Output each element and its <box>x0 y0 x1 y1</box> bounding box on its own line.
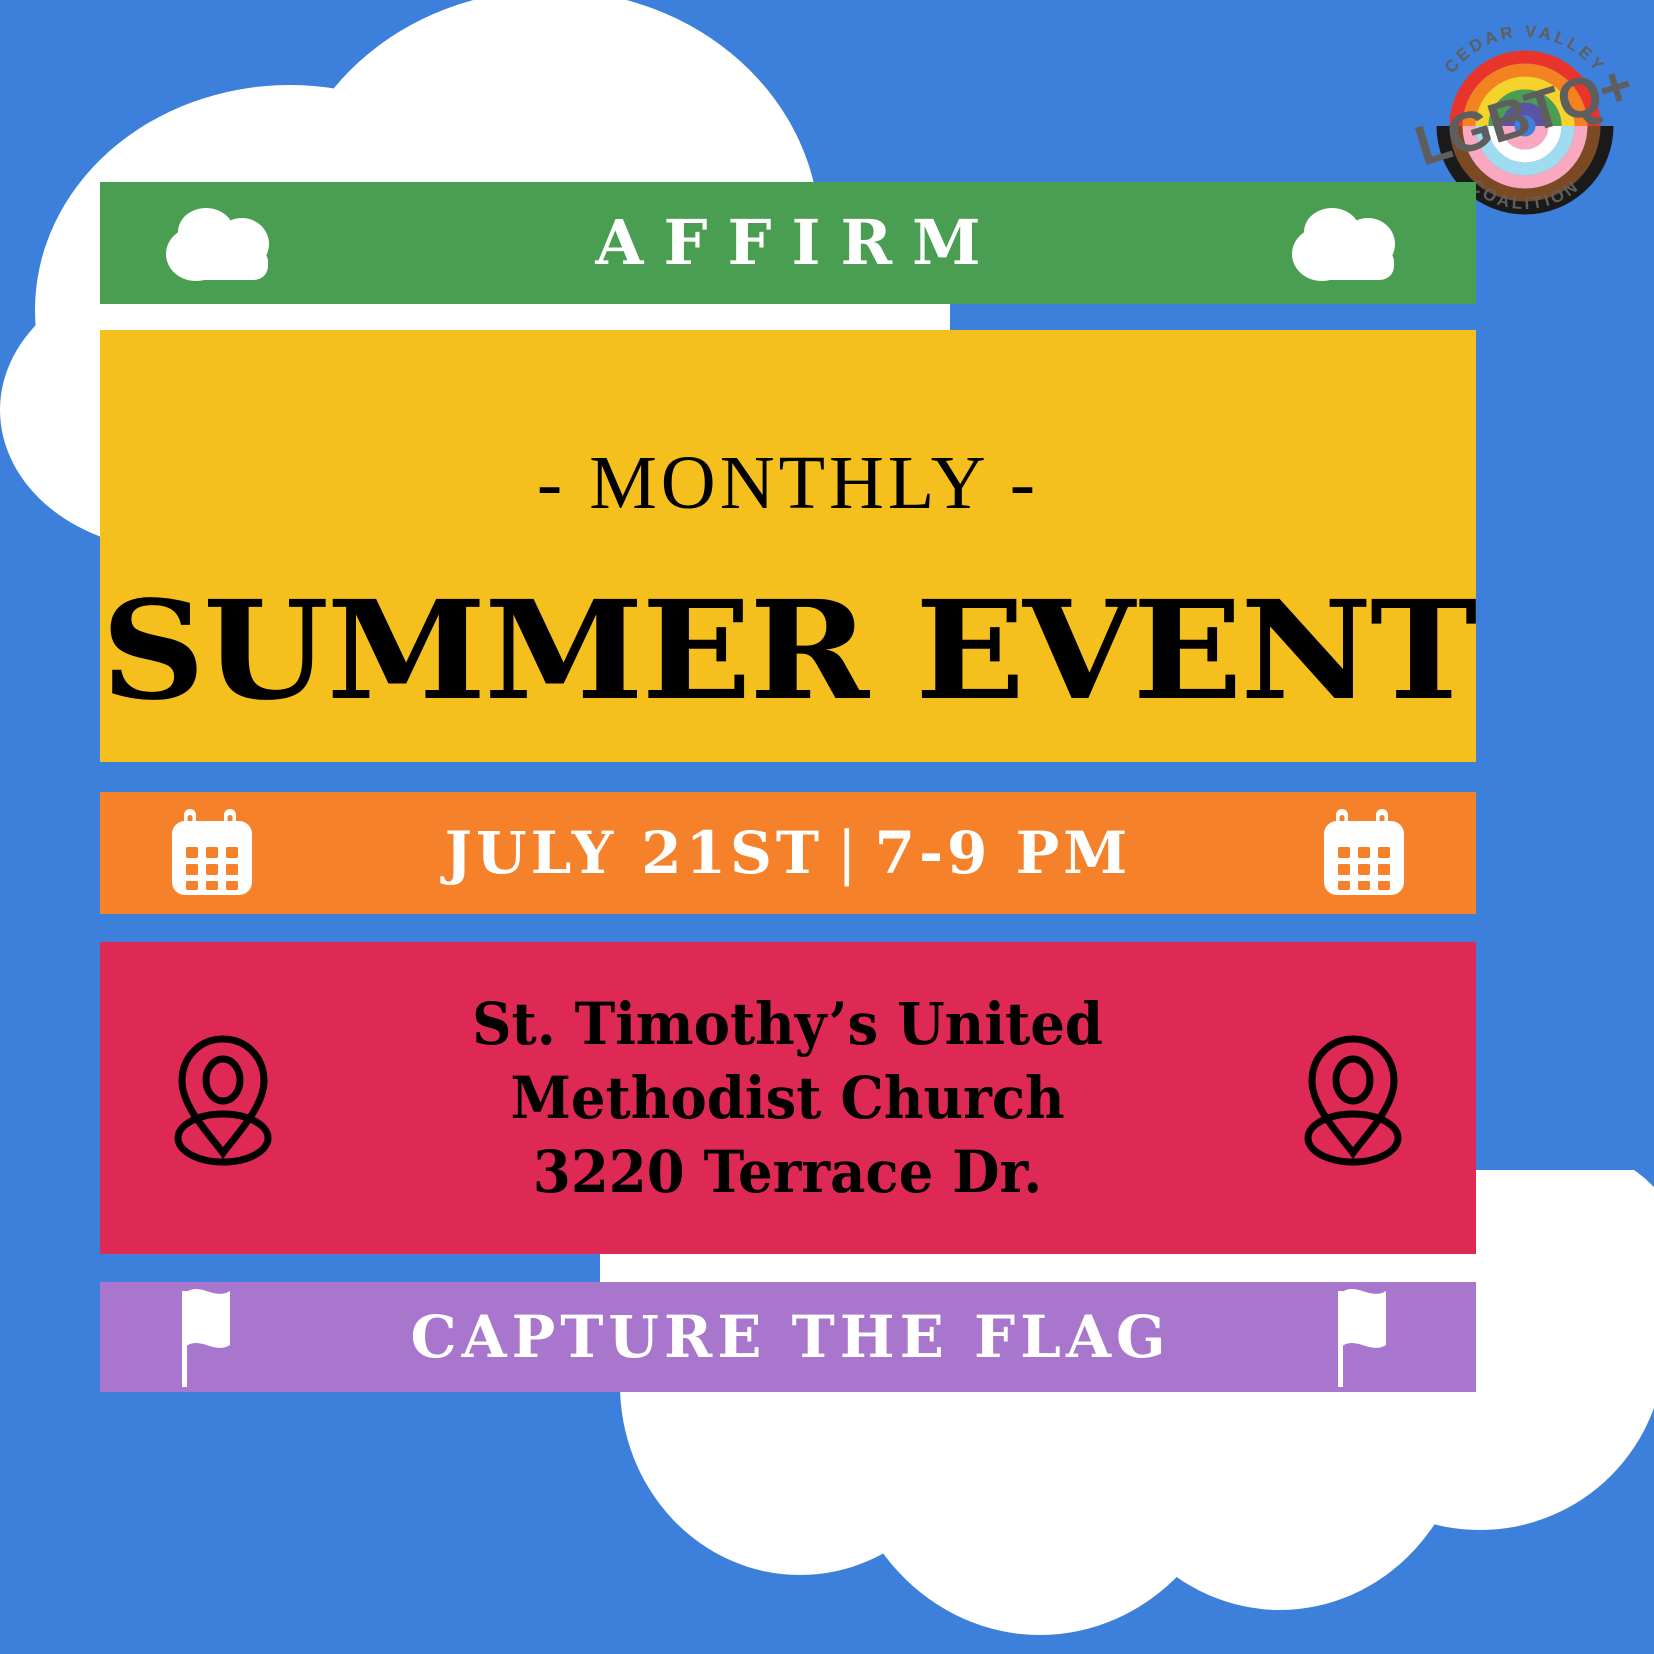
band-date: JULY 21ST|7-9 PM <box>100 792 1476 914</box>
event-poster: CEDAR VALLEY COALITION LGBTQ+ AFFIRM <box>0 0 1654 1654</box>
location-address: St. Timothy’s United Methodist Church 32… <box>473 987 1104 1210</box>
calendar-icon <box>160 801 264 905</box>
title-kicker: - MONTHLY - <box>537 445 1039 521</box>
cloud-icon <box>160 202 290 284</box>
time-label: 7-9 PM <box>875 819 1132 887</box>
band-title: - MONTHLY - SUMMER EVENT <box>100 330 1476 762</box>
location-line-1: St. Timothy’s United <box>473 987 1104 1061</box>
date-separator: | <box>823 819 875 887</box>
band-location: St. Timothy’s United Methodist Church 32… <box>100 942 1476 1254</box>
location-line-3: 3220 Terrace Dr. <box>473 1135 1104 1209</box>
title-heading: SUMMER EVENT <box>101 583 1475 719</box>
date-label: JULY 21ST <box>445 819 823 887</box>
location-line-2: Methodist Church <box>473 1061 1104 1135</box>
affirm-label: AFFIRM <box>575 212 1000 274</box>
map-pin-icon <box>1278 1023 1428 1173</box>
band-activity: CAPTURE THE FLAG <box>100 1282 1476 1392</box>
band-affirm: AFFIRM <box>100 182 1476 304</box>
flag-icon <box>1316 1283 1416 1391</box>
map-pin-icon <box>148 1023 298 1173</box>
calendar-icon <box>1312 801 1416 905</box>
flag-icon <box>160 1283 260 1391</box>
activity-label: CAPTURE THE FLAG <box>406 1308 1171 1366</box>
date-time-label: JULY 21ST|7-9 PM <box>445 824 1132 882</box>
cloud-icon <box>1286 202 1416 284</box>
